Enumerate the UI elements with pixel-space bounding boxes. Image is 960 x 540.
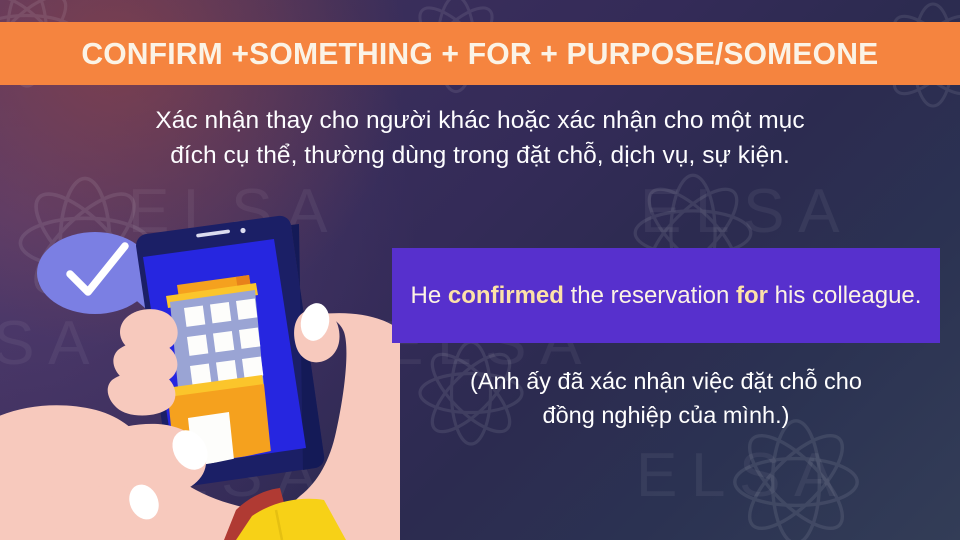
example-text: He — [411, 282, 448, 309]
page-title: CONFIRM +SOMETHING + FOR + PURPOSE/SOMEO… — [81, 36, 878, 72]
elsa-brand-watermark: ELSA — [640, 176, 853, 247]
example-keyword: confirmed — [448, 282, 564, 309]
slide-canvas: ELSA ELSA ELSA ELSA ELSA ELSA — [0, 0, 960, 540]
example-text: the reservation — [564, 282, 736, 309]
translation-text: (Anh ấy đã xác nhận việc đặt chỗ cho đồn… — [392, 365, 940, 432]
example-sentence: He confirmed the reservation for his col… — [411, 280, 922, 312]
hand-fingers-back — [108, 309, 178, 415]
definition-text: Xác nhận thay cho người khác hoặc xác nh… — [50, 104, 910, 174]
example-text: his colleague. — [768, 282, 921, 309]
definition-line-1: Xác nhận thay cho người khác hoặc xác nh… — [50, 104, 910, 139]
elsa-brand-watermark: ELSA — [636, 440, 849, 511]
translation-line-1: (Anh ấy đã xác nhận việc đặt chỗ cho — [392, 365, 940, 399]
example-sentence-card: He confirmed the reservation for his col… — [392, 248, 940, 343]
example-keyword: for — [736, 282, 768, 309]
checkmark-speech-bubble — [37, 232, 153, 314]
translation-line-2: đồng nghiệp của mình.) — [392, 399, 940, 433]
hand-phone-illustration — [0, 210, 400, 540]
header-banner: CONFIRM +SOMETHING + FOR + PURPOSE/SOMEO… — [0, 22, 960, 85]
definition-line-2: đích cụ thể, thường dùng trong đặt chỗ, … — [50, 139, 910, 174]
